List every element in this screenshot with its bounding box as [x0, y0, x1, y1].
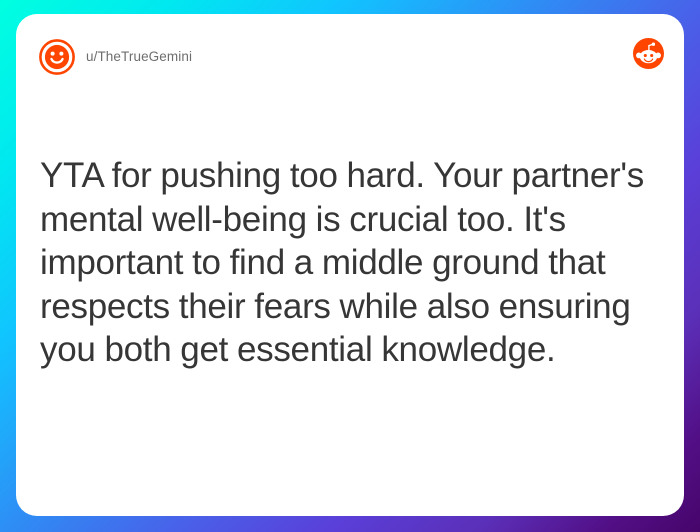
post-header: u/TheTrueGemini [16, 14, 684, 114]
post-author-username[interactable]: u/TheTrueGemini [86, 46, 192, 68]
reddit-snoo-icon[interactable] [633, 38, 664, 69]
smiley-face-avatar-icon[interactable] [38, 38, 76, 76]
post-body-text: YTA for pushing too hard. Your partner's… [40, 154, 652, 372]
reddit-post-card: u/TheTrueGemini YTA for pushing too hard… [16, 14, 684, 516]
